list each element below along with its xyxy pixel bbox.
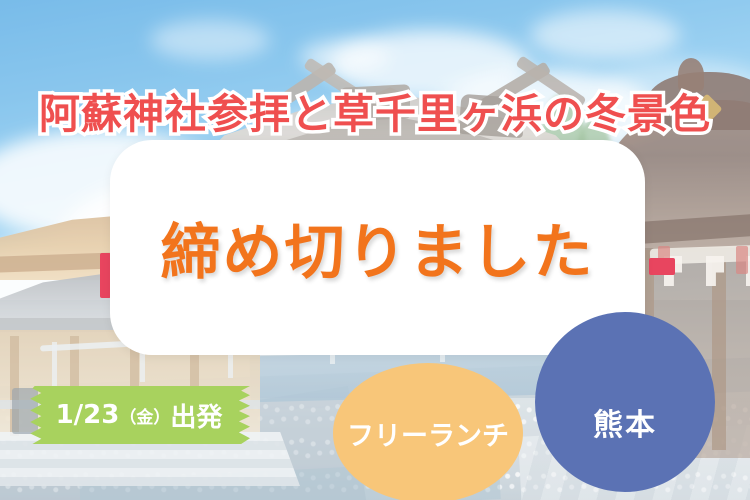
banner-title: 阿蘇神社参拝と草千里ヶ浜の冬景色 [0,80,750,140]
subtitle-fragment-right [649,258,675,275]
departure-word: 出発 [170,397,222,434]
departure-label-group: 1/23（金）出発 [28,386,250,444]
prefecture-badge-label: 熊本 [535,312,715,492]
free-lunch-badge-label: フリーランチ [333,363,523,500]
tour-promo-banner: 阿蘇神社参拝と草千里ヶ浜の冬景色 締め切りました 1/23（金）出発 フリーラン… [0,0,750,500]
departure-date: 1/23 [56,400,120,430]
departure-weekday: （金） [119,403,170,428]
